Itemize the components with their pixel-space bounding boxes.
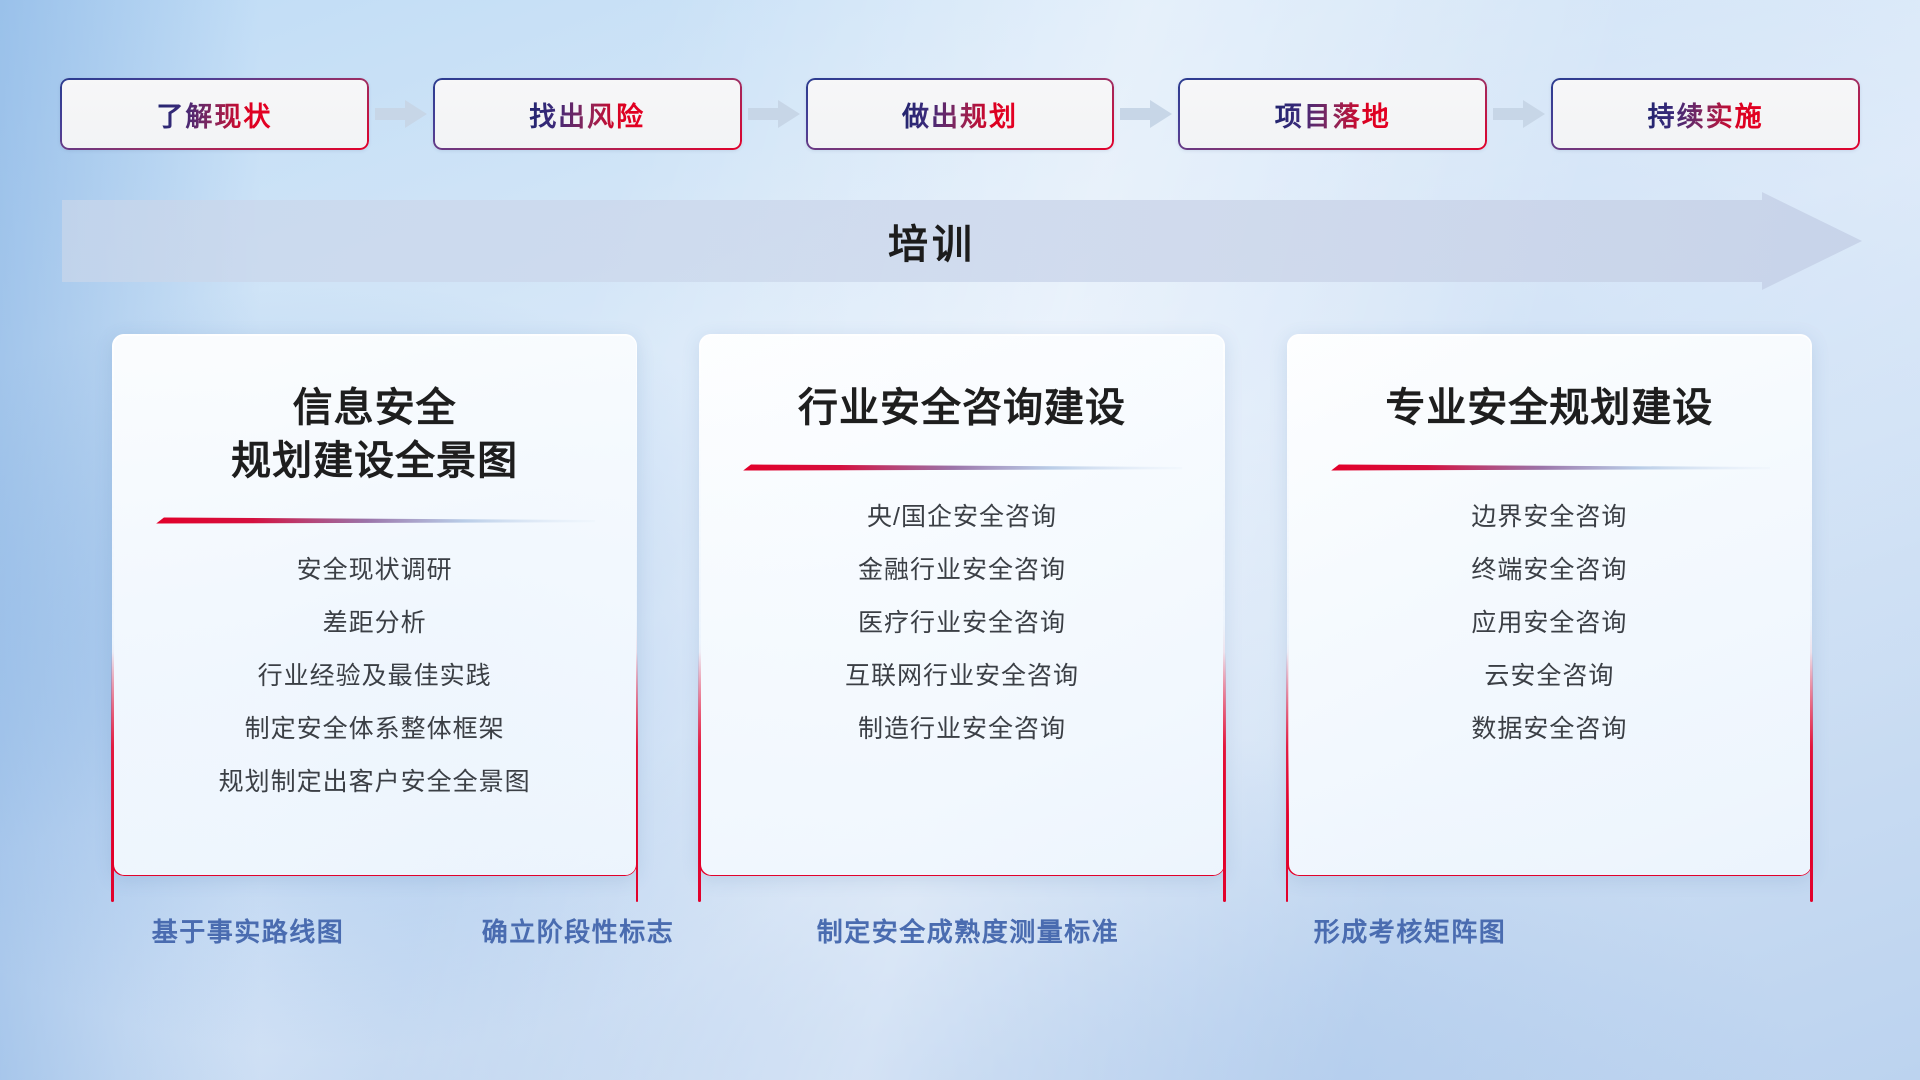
step-box-2[interactable]: 找出风险 [433,78,742,150]
list-item[interactable]: 数据安全咨询 [1471,709,1627,745]
footer-label: 确立阶段性标志 [482,912,675,949]
step-box-1[interactable]: 了解现状 [60,78,369,150]
list-item[interactable]: 医疗行业安全咨询 [858,603,1066,639]
footer-label: 形成考核矩阵图 [1314,912,1507,949]
list-item[interactable]: 边界安全咨询 [1471,497,1627,533]
list-item[interactable]: 应用安全咨询 [1471,603,1627,639]
card-title: 行业安全咨询建设 [776,382,1148,435]
list-item[interactable]: 云安全咨询 [1484,656,1614,692]
card-group: 信息安全 规划建设全景图安全现状调研差距分析行业经验及最佳实践制定安全体系整体框… [112,334,1812,876]
list-item[interactable]: 终端安全咨询 [1471,550,1627,586]
chevron-right-arrow-icon [742,97,806,131]
banner-label: 培训 [62,192,1802,290]
card-title: 信息安全 规划建设全景图 [209,382,540,488]
process-step-flow: 了解现状找出风险做出规划项目落地持续实施 [60,78,1860,150]
card-divider-rule [154,514,595,528]
step-label: 找出风险 [529,95,645,134]
list-item[interactable]: 金融行业安全咨询 [858,550,1066,586]
list-item[interactable]: 制定安全体系整体框架 [245,709,505,745]
list-item[interactable]: 互联网行业安全咨询 [845,656,1079,692]
list-item[interactable]: 制造行业安全咨询 [858,709,1066,745]
list-item[interactable]: 行业经验及最佳实践 [258,656,492,692]
footer-label: 基于事实路线图 [152,912,345,949]
step-box-4[interactable]: 项目落地 [1178,78,1487,150]
chevron-right-arrow-icon [1487,97,1551,131]
step-label: 了解现状 [156,95,272,134]
card-item-list: 央/国企安全咨询金融行业安全咨询医疗行业安全咨询互联网行业安全咨询制造行业安全咨… [699,497,1224,745]
list-item[interactable]: 央/国企安全咨询 [867,497,1057,533]
info-card-1[interactable]: 信息安全 规划建设全景图安全现状调研差距分析行业经验及最佳实践制定安全体系整体框… [112,334,637,876]
step-box-5[interactable]: 持续实施 [1551,78,1860,150]
chevron-right-arrow-icon [369,97,433,131]
card-divider-rule [741,461,1182,475]
list-item[interactable]: 差距分析 [323,603,427,639]
footer-label: 制定安全成熟度测量标准 [817,912,1120,949]
card-item-list: 边界安全咨询终端安全咨询应用安全咨询云安全咨询数据安全咨询 [1287,497,1812,745]
card-title: 专业安全规划建设 [1363,382,1735,435]
info-card-2[interactable]: 行业安全咨询建设央/国企安全咨询金融行业安全咨询医疗行业安全咨询互联网行业安全咨… [699,334,1224,876]
card-divider-rule [1329,461,1770,475]
list-item[interactable]: 规划制定出客户安全全景图 [219,762,531,798]
step-label: 持续实施 [1648,95,1764,134]
step-label: 项目落地 [1275,95,1391,134]
info-card-3[interactable]: 专业安全规划建设边界安全咨询终端安全咨询应用安全咨询云安全咨询数据安全咨询 [1287,334,1812,876]
training-banner: 培训 [62,192,1862,290]
step-label: 做出规划 [902,95,1018,134]
footer-label-row: 基于事实路线图确立阶段性标志制定安全成熟度测量标准形成考核矩阵图 [0,912,1920,958]
chevron-right-arrow-icon [1114,97,1178,131]
step-box-3[interactable]: 做出规划 [806,78,1115,150]
card-item-list: 安全现状调研差距分析行业经验及最佳实践制定安全体系整体框架规划制定出客户安全全景… [112,550,637,798]
list-item[interactable]: 安全现状调研 [297,550,453,586]
